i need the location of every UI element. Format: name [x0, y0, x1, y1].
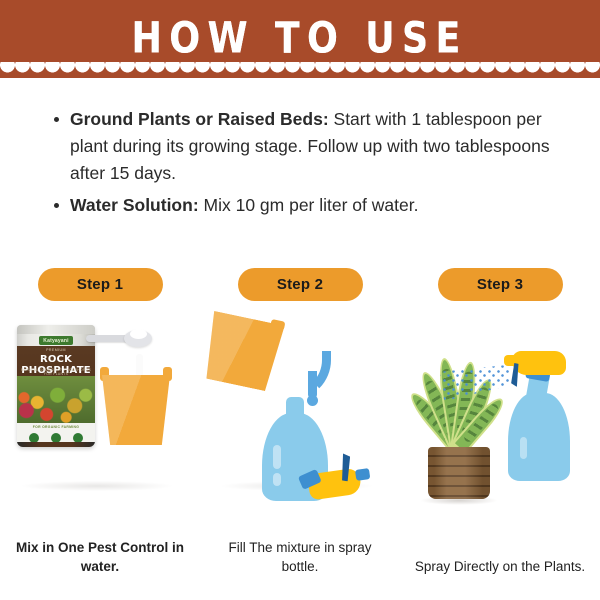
- steps-row: Step 1 Katyayani PREMIUM ROCK PHOSPHATE …: [0, 268, 600, 600]
- water-tail: [308, 371, 317, 399]
- ground-shadow: [22, 481, 172, 491]
- plant-pot: [428, 447, 490, 499]
- brand-name: Katyayani: [43, 338, 68, 344]
- pouch-top-seal: [17, 325, 95, 334]
- instructions-block: Ground Plants or Raised Beds: Start with…: [48, 106, 556, 224]
- step-column-3: Step 3: [400, 268, 600, 600]
- step-caption-1: Mix in One Pest Control in water.: [0, 538, 200, 576]
- certification-badge-icon: [51, 433, 61, 443]
- bucket-body: [102, 375, 170, 445]
- certification-badge-icon: [73, 433, 83, 443]
- spray-bottle-icon: [504, 351, 574, 481]
- bottle-highlight: [273, 445, 281, 469]
- premium-label: PREMIUM: [17, 348, 95, 352]
- pouch-footer-note: FOR ORGANIC FARMING: [17, 425, 95, 429]
- step-1-illustration: Katyayani PREMIUM ROCK PHOSPHATE NATURAL…: [0, 307, 200, 507]
- certification-badge-icon: [29, 433, 39, 443]
- bottle-highlight: [273, 473, 281, 486]
- product-pouch: Katyayani PREMIUM ROCK PHOSPHATE NATURAL…: [17, 325, 95, 447]
- step-badge-3: Step 3: [438, 268, 563, 301]
- instruction-text: Mix 10 gm per liter of water.: [199, 195, 419, 215]
- spoon-icon: [86, 327, 154, 361]
- potted-plant-icon: [406, 335, 506, 505]
- step-caption-3: Spray Directly on the Plants.: [400, 557, 600, 576]
- step-badge-2: Step 2: [238, 268, 363, 301]
- step-badge-label: Step 3: [477, 276, 523, 293]
- instructions-list: Ground Plants or Raised Beds: Start with…: [48, 106, 556, 219]
- water-arc: [278, 351, 331, 400]
- infographic-page: HOW TO USE Ground Plants or Raised Beds:…: [0, 0, 600, 600]
- bottle-highlight: [520, 437, 527, 459]
- step-2-illustration: [200, 307, 400, 507]
- list-item: Ground Plants or Raised Beds: Start with…: [70, 106, 556, 187]
- instruction-label: Water Solution:: [70, 195, 199, 215]
- sprayer-nozzle: [355, 468, 370, 481]
- page-title: HOW TO USE: [132, 15, 468, 64]
- step-badge-1: Step 1: [38, 268, 163, 301]
- bucket-icon: [98, 367, 174, 445]
- list-item: Water Solution: Mix 10 gm per liter of w…: [70, 192, 556, 219]
- ground-shadow: [420, 496, 498, 505]
- step-badge-label: Step 2: [277, 276, 323, 293]
- step-badge-label: Step 1: [77, 276, 123, 293]
- produce-photo: [17, 376, 95, 424]
- product-tagline: NATURAL SOURCE OF PHOSPHORUS FOR PLANTS: [17, 368, 95, 376]
- header-banner: HOW TO USE: [0, 0, 600, 78]
- step-column-1: Step 1 Katyayani PREMIUM ROCK PHOSPHATE …: [0, 268, 200, 600]
- instruction-label: Ground Plants or Raised Beds:: [70, 109, 329, 129]
- step-caption-2: Fill The mixture in spray bottle.: [200, 538, 400, 576]
- powder-heap: [130, 329, 147, 339]
- step-column-2: Step 2: [200, 268, 400, 600]
- step-3-illustration: [400, 307, 600, 507]
- brand-logo: Katyayani: [39, 336, 73, 345]
- bottle-body: [508, 393, 570, 481]
- sprayer-head-icon: [297, 452, 370, 505]
- water-stream-icon: [278, 351, 324, 401]
- pouch-bottom-gusset: [17, 442, 95, 447]
- sprayer-head: [512, 351, 566, 375]
